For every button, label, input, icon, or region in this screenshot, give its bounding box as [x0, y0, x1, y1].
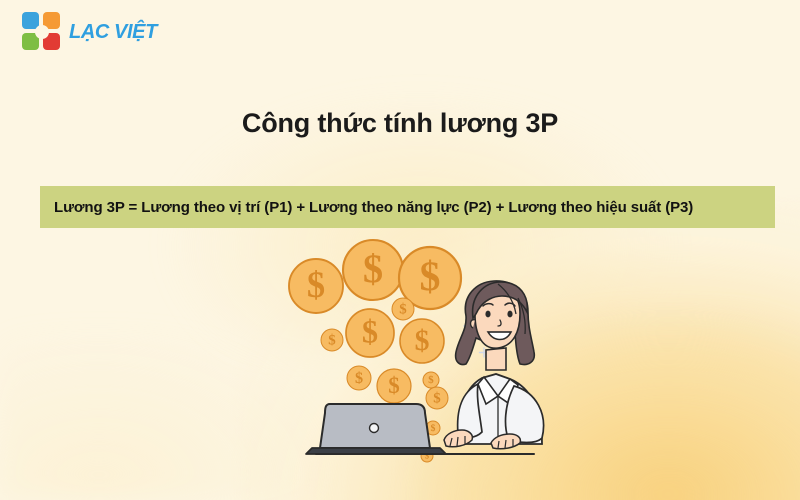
- coin-dollar-symbol: $: [362, 315, 378, 351]
- formula-text: Lương 3P = Lương theo vị trí (P1) + Lươn…: [54, 199, 693, 216]
- formula-banner: Lương 3P = Lương theo vị trí (P1) + Lươn…: [40, 186, 775, 228]
- illustration-woman-with-laptop-and-coins: $$$$$$$$$$$$$$$: [270, 238, 550, 468]
- coin-dollar-symbol: $: [428, 374, 434, 386]
- coin-dollar-symbol: $: [363, 246, 383, 291]
- coin-dollar-symbol: $: [355, 369, 363, 387]
- coin-dollar-symbol: $: [420, 254, 441, 300]
- eye-left: [485, 311, 490, 318]
- logo-center-dot: [35, 25, 49, 39]
- slide-canvas: LẠC VIỆT Công thức tính lương 3P Lương 3…: [0, 0, 800, 500]
- coin-dollar-symbol: $: [399, 301, 407, 317]
- page-title: Công thức tính lương 3P: [0, 108, 800, 139]
- brand-logo[interactable]: LẠC VIỆT: [22, 12, 157, 52]
- coin-dollar-symbol: $: [307, 264, 325, 305]
- logo-brand-name: LẠC VIỆT: [69, 21, 157, 44]
- coin-dollar-symbol: $: [431, 423, 436, 434]
- eye-right: [507, 311, 512, 318]
- coin-dollar-symbol: $: [328, 332, 336, 348]
- neck: [486, 348, 506, 370]
- coin-dollar-symbol: $: [415, 325, 430, 357]
- logo-pinwheel-icon: [22, 12, 62, 52]
- coin-dollar-symbol: $: [388, 373, 400, 398]
- coin-dollar-symbol: $: [433, 390, 441, 406]
- laptop-logo: [370, 424, 379, 433]
